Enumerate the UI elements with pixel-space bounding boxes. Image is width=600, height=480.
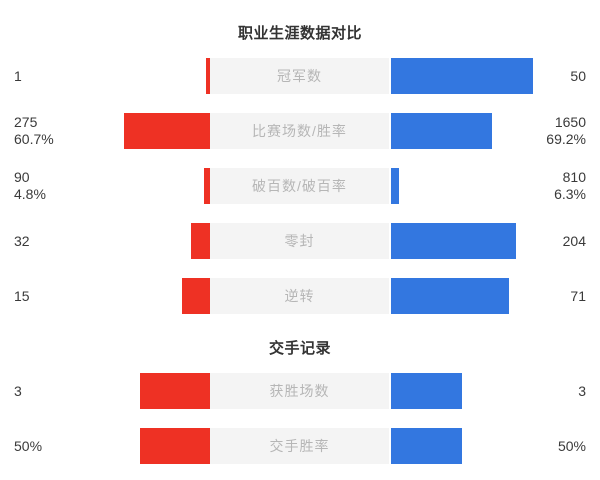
- stat-row-right-value: 71: [570, 277, 586, 315]
- right-primary-value: 3: [578, 383, 586, 400]
- stat-row-right-value: 204: [563, 222, 586, 260]
- right-bar: [391, 223, 516, 259]
- left-primary-value: 275: [14, 114, 37, 131]
- right-bar: [391, 428, 462, 464]
- stat-label: 比赛场数/胜率: [252, 121, 347, 141]
- left-secondary-value: 4.8%: [14, 186, 46, 203]
- stat-track: 零封: [210, 223, 389, 259]
- right-bar: [391, 113, 492, 149]
- h2h-track: 交手胜率: [210, 428, 389, 464]
- stat-row-right-value: 1650 69.2%: [546, 112, 586, 150]
- h2h-row-left-value: 3: [14, 372, 22, 410]
- stat-row-matches-winrate: 275 60.7% 比赛场数/胜率 1650 69.2%: [0, 112, 600, 150]
- stat-row-left-value: 275 60.7%: [14, 112, 54, 150]
- stat-row-left-value: 32: [14, 222, 30, 260]
- left-primary-value: 90: [14, 169, 30, 186]
- h2h-row-winrate: 50% 交手胜率 50%: [0, 427, 600, 465]
- left-primary-value: 3: [14, 383, 22, 400]
- left-secondary-value: 60.7%: [14, 131, 54, 148]
- stat-label: 逆转: [285, 286, 315, 306]
- head-to-head-title: 交手记录: [0, 337, 600, 358]
- h2h-label: 获胜场数: [270, 381, 330, 401]
- stat-track: 破百数/破百率: [210, 168, 389, 204]
- right-bar: [391, 278, 509, 314]
- h2h-label: 交手胜率: [270, 436, 330, 456]
- h2h-row-right-value: 50%: [558, 427, 586, 465]
- right-bar: [391, 168, 399, 204]
- stat-label: 零封: [285, 231, 315, 251]
- right-primary-value: 50%: [558, 438, 586, 455]
- stat-row-left-value: 15: [14, 277, 30, 315]
- h2h-row-left-value: 50%: [14, 427, 42, 465]
- stat-track: 比赛场数/胜率: [210, 113, 389, 149]
- left-primary-value: 32: [14, 233, 30, 250]
- career-comparison-title: 职业生涯数据对比: [0, 22, 600, 43]
- right-primary-value: 1650: [555, 114, 586, 131]
- right-primary-value: 810: [563, 169, 586, 186]
- stat-row-whitewash: 32 零封 204: [0, 222, 600, 260]
- stat-row-left-value: 1: [14, 57, 22, 95]
- stat-row-right-value: 50: [570, 57, 586, 95]
- left-bar: [140, 373, 210, 409]
- h2h-row-right-value: 3: [578, 372, 586, 410]
- right-secondary-value: 6.3%: [554, 186, 586, 203]
- stat-row-century-breaks: 90 4.8% 破百数/破百率 810 6.3%: [0, 167, 600, 205]
- stat-track: 冠军数: [210, 58, 389, 94]
- right-primary-value: 204: [563, 233, 586, 250]
- left-primary-value: 50%: [14, 438, 42, 455]
- stat-label: 冠军数: [277, 66, 322, 86]
- h2h-row-wins: 3 获胜场数 3: [0, 372, 600, 410]
- comparison-chart-canvas: 职业生涯数据对比 1 冠军数 50 275 60.7% 比赛场数/胜率 1650…: [0, 0, 600, 480]
- stat-track: 逆转: [210, 278, 389, 314]
- stat-row-left-value: 90 4.8%: [14, 167, 46, 205]
- right-secondary-value: 69.2%: [546, 131, 586, 148]
- right-bar: [391, 373, 462, 409]
- stat-row-right-value: 810 6.3%: [554, 167, 586, 205]
- left-primary-value: 15: [14, 288, 30, 305]
- right-primary-value: 50: [570, 68, 586, 85]
- left-bar: [140, 428, 210, 464]
- h2h-track: 获胜场数: [210, 373, 389, 409]
- stat-row-champions: 1 冠军数 50: [0, 57, 600, 95]
- left-primary-value: 1: [14, 68, 22, 85]
- left-bar: [182, 278, 210, 314]
- right-bar: [391, 58, 533, 94]
- stat-label: 破百数/破百率: [252, 176, 347, 196]
- stat-row-comeback: 15 逆转 71: [0, 277, 600, 315]
- left-bar: [191, 223, 210, 259]
- left-bar: [124, 113, 210, 149]
- right-primary-value: 71: [570, 288, 586, 305]
